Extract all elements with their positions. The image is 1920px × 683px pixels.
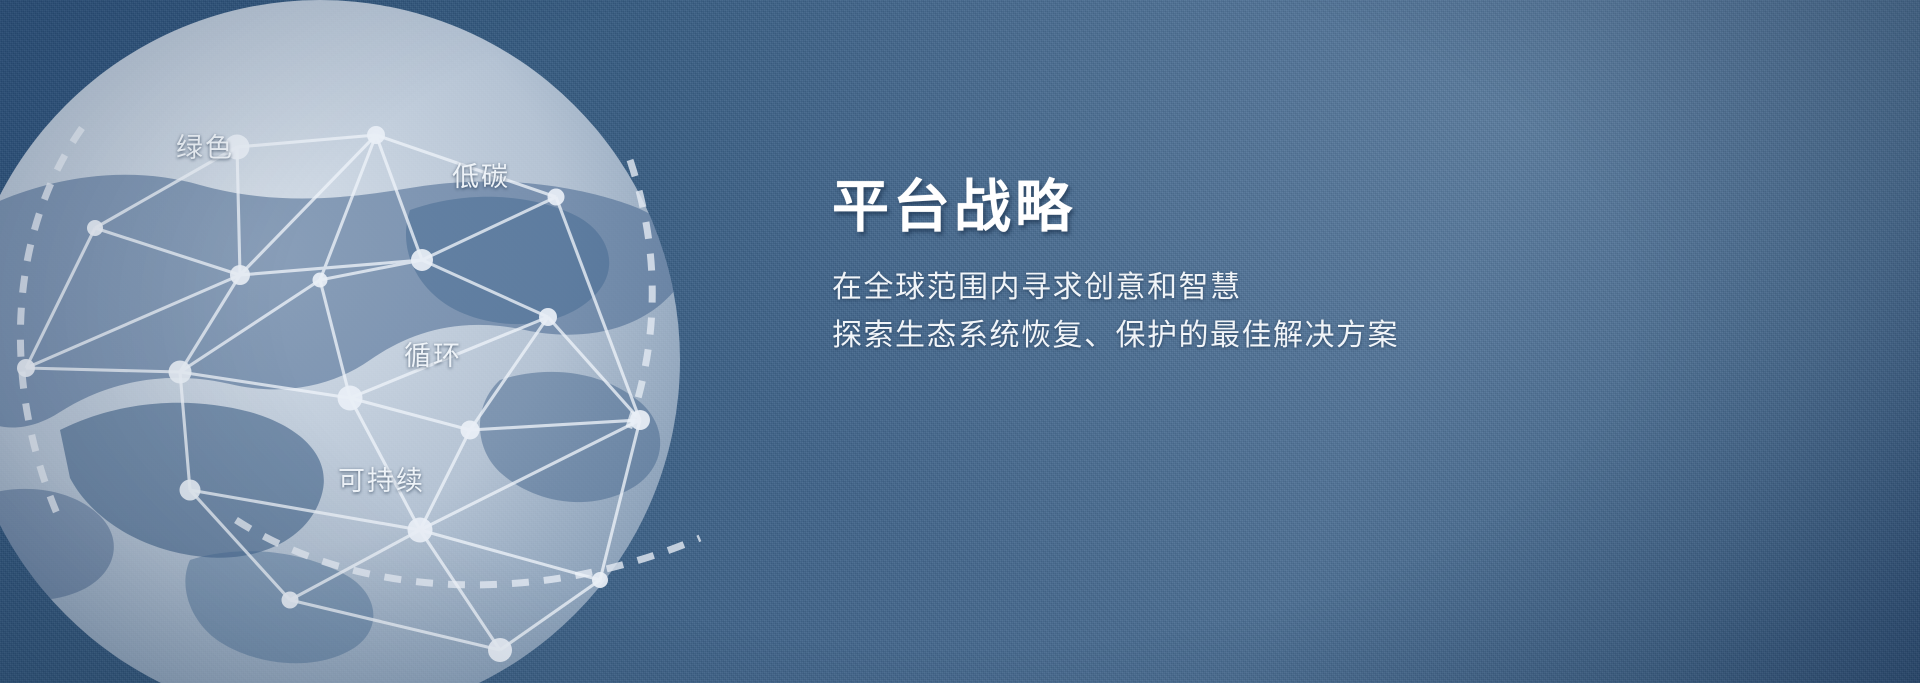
graphic-label-circular: 循环 [404, 334, 462, 373]
graphic-label-low-carbon: 低碳 [452, 155, 510, 194]
hero-banner: 绿色 低碳 循环 可持续 平台战略 在全球范围内寻求创意和智慧 探索生态系统恢复… [0, 0, 1920, 683]
subtitle-line-2: 探索生态系统恢复、保护的最佳解决方案 [832, 312, 1532, 361]
hero-text-block: 平台战略 在全球范围内寻求创意和智慧 探索生态系统恢复、保护的最佳解决方案 [832, 178, 1532, 361]
graphic-label-green: 绿色 [176, 126, 234, 165]
subtitle-line-1: 在全球范围内寻求创意和智慧 [832, 264, 1532, 313]
graphic-label-sustainable: 可持续 [338, 459, 425, 498]
page-title: 平台战略 [832, 178, 1532, 238]
